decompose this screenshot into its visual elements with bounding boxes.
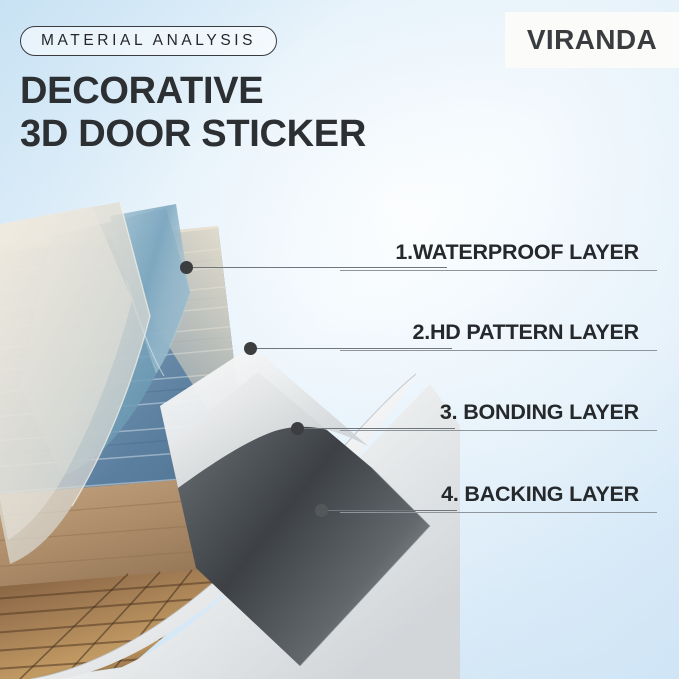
callout-dot-4 xyxy=(315,504,328,517)
callout-label-3: 3. BONDING LAYER xyxy=(340,400,679,430)
callout-rule-3 xyxy=(340,430,657,431)
callout-rule-1 xyxy=(340,270,657,271)
page-title-line-2: 3D DOOR STICKER xyxy=(20,113,366,156)
callout-bonding-layer: 3. BONDING LAYER xyxy=(340,400,679,431)
callout-rule-2 xyxy=(340,350,657,351)
callout-dot-1 xyxy=(180,261,193,274)
callout-label-4: 4. BACKING LAYER xyxy=(340,482,679,512)
callout-rule-4 xyxy=(340,512,657,513)
brand-logo: VIRANDA xyxy=(505,12,679,68)
callout-dot-3 xyxy=(291,422,304,435)
material-analysis-badge-label: MATERIAL ANALYSIS xyxy=(41,32,256,50)
callout-backing-layer: 4. BACKING LAYER xyxy=(340,482,679,513)
callout-label-1: 1.WATERPROOF LAYER xyxy=(340,240,679,270)
callout-waterproof-layer: 1.WATERPROOF LAYER xyxy=(340,240,679,271)
page-title: DECORATIVE 3D DOOR STICKER xyxy=(20,70,366,156)
brand-logo-text: VIRANDA xyxy=(527,24,657,56)
page-title-line-1: DECORATIVE xyxy=(20,70,366,113)
callout-hd-pattern-layer: 2.HD PATTERN LAYER xyxy=(340,320,679,351)
callout-dot-2 xyxy=(244,342,257,355)
infographic-page: 1.WATERPROOF LAYER 2.HD PATTERN LAYER 3.… xyxy=(0,0,679,679)
callout-label-2: 2.HD PATTERN LAYER xyxy=(340,320,679,350)
material-analysis-badge: MATERIAL ANALYSIS xyxy=(20,26,277,56)
